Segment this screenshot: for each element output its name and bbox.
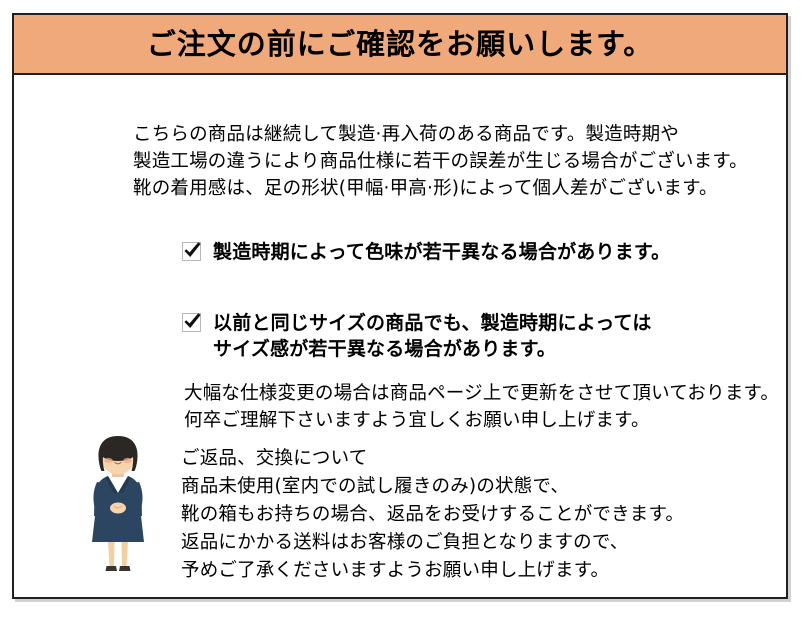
notice-header-band: ご注文の前にご確認をお願いします。	[14, 15, 786, 75]
bowing-woman-illustration	[70, 430, 166, 580]
returns-line: 商品未使用(室内での試し履きのみ)の状態で、	[181, 473, 781, 501]
intro-line: こちらの商品は継続して製造·再入荷のある商品です。製造時期や	[133, 121, 773, 148]
checkbox-checked-icon	[182, 313, 201, 332]
returns-line: 予めご了承くださいますようお願い申し上げます。	[181, 557, 781, 585]
page-title: ご注文の前にご確認をお願いします。	[147, 30, 654, 59]
returns-line: 靴の箱もお持ちの場合、返品をお受けすることができます。	[181, 501, 781, 529]
checklist-line: 以前と同じサイズの商品でも、製造時期によっては	[213, 312, 652, 334]
checklist-item-text: 製造時期によって色味が若干異なる場合があります。	[213, 239, 670, 265]
spec-change-line: 何卒ご理解下さいますよう宜しくお願い申し上げます。	[184, 407, 784, 434]
intro-line: 製造工場の違うにより商品仕様に若干の誤差が生じる場合がございます。	[133, 148, 773, 175]
checklist-item: 以前と同じサイズの商品でも、製造時期によっては サイズ感が若干異なる場合がありま…	[182, 310, 786, 362]
checklist-item-text: 以前と同じサイズの商品でも、製造時期によっては サイズ感が若干異なる場合がありま…	[213, 310, 786, 362]
returns-line: 返品にかかる送料はお客様のご負担となりますので、	[181, 529, 781, 557]
checklist-item: 製造時期によって色味が若干異なる場合があります。	[182, 239, 670, 265]
spec-change-line: 大幅な仕様変更の場合は商品ページ上で更新をさせて頂いております。	[184, 380, 784, 407]
returns-line: ご返品、交換について	[181, 445, 781, 473]
returns-policy-paragraph: ご返品、交換について 商品未使用(室内での試し履きのみ)の状態で、 靴の箱もお持…	[181, 445, 781, 585]
notice-body: こちらの商品は継続して製造·再入荷のある商品です。製造時期や 製造工場の違うによ…	[14, 77, 786, 597]
intro-line: 靴の着用感は、足の形状(甲幅·甲高·形)によって個人差がございます。	[133, 175, 773, 202]
spec-change-paragraph: 大幅な仕様変更の場合は商品ページ上で更新をさせて頂いております。 何卒ご理解下さ…	[184, 380, 784, 434]
notice-panel: ご注文の前にご確認をお願いします。 こちらの商品は継続して製造·再入荷のある商品…	[12, 13, 788, 599]
checklist-line: 製造時期によって色味が若干異なる場合があります。	[213, 241, 670, 263]
intro-paragraph: こちらの商品は継続して製造·再入荷のある商品です。製造時期や 製造工場の違うによ…	[133, 121, 773, 202]
checkbox-checked-icon	[182, 242, 201, 261]
checklist-line: サイズ感が若干異なる場合があります。	[213, 338, 556, 360]
